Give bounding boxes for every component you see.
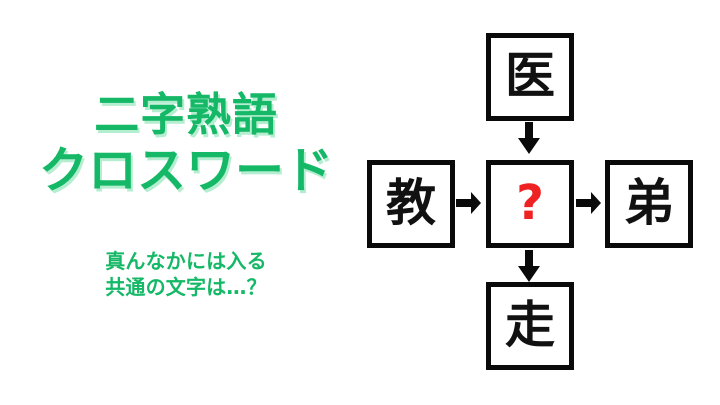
puzzle-cell-left: 教 [367,160,455,248]
title-line-1: 二字熟語 [0,92,372,137]
puzzle-char-center: ? [516,179,544,227]
puzzle-slide: 二字熟語 クロスワード 真んなかには入る 共通の文字は…？ 医 教 ? [0,0,720,405]
arrow-right-icon [576,191,602,215]
puzzle-char-bottom: 走 [505,300,555,350]
arrow-down-icon [517,250,541,283]
crossword-diagram: 医 教 ? 弟 [360,0,720,405]
puzzle-char-right: 弟 [624,178,674,228]
subtitle-line-1: 真んなかには入る [0,248,372,274]
arrow-down-icon [517,122,541,155]
title-line-2: クロスワード [0,146,372,195]
title-block: 二字熟語 クロスワード [0,92,372,195]
subtitle-line-2: 共通の文字は…？ [0,274,372,300]
puzzle-char-top: 医 [505,51,555,101]
puzzle-cell-top: 医 [486,33,574,121]
puzzle-cell-bottom: 走 [486,282,574,370]
puzzle-cell-right: 弟 [605,160,693,248]
puzzle-char-left: 教 [386,178,436,228]
arrow-right-icon [456,191,482,215]
puzzle-cell-center-answer: ? [486,160,574,248]
subtitle-block: 真んなかには入る 共通の文字は…？ [0,248,372,301]
